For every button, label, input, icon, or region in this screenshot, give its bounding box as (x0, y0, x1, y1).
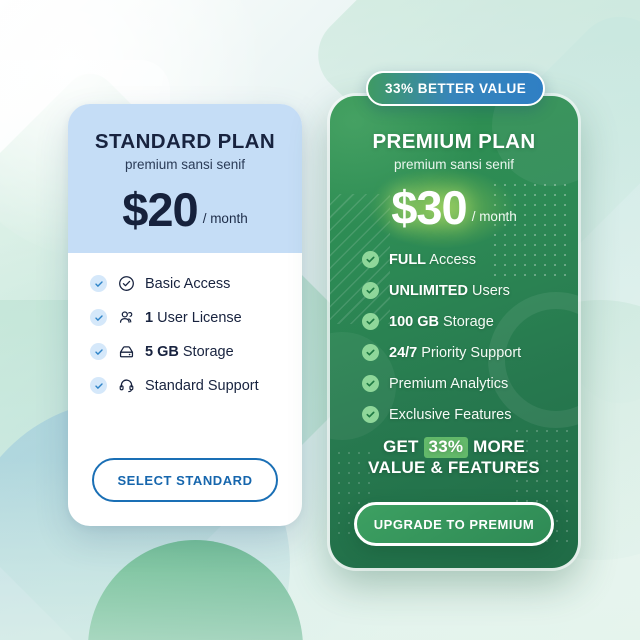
list-item: 24/7 Priority Support (362, 344, 578, 361)
standard-price-period: / month (203, 211, 248, 231)
list-item-label: Standard Support (145, 378, 259, 394)
list-item: Premium Analytics (362, 375, 578, 392)
list-item-label: Premium Analytics (389, 376, 508, 392)
list-item: UNLIMITED Users (362, 282, 578, 299)
list-item-label: Basic Access (145, 276, 230, 292)
premium-plan-subtitle: premium sansi senif (330, 157, 578, 172)
list-item: FULL Access (362, 251, 578, 268)
premium-price: $30 (391, 186, 466, 229)
check-badge-icon (90, 343, 107, 360)
premium-plan-card[interactable]: PREMIUM PLAN premium sansi senif $30 / m… (330, 96, 578, 568)
standard-plan-card[interactable]: STANDARD PLAN premium sansi senif $20 / … (68, 104, 302, 526)
standard-features-list: Basic Access 1 User License 5 GB Stora (68, 253, 302, 394)
promo-text: GET 33% MORE VALUE & FEATURES (330, 437, 578, 478)
check-circle-icon (362, 251, 379, 268)
premium-features-list: FULL Access UNLIMITED Users 100 GB Stora… (330, 251, 578, 423)
select-standard-button[interactable]: SELECT STANDARD (92, 458, 278, 502)
promo-prefix: GET (383, 437, 419, 456)
standard-plan-subtitle: premium sansi senif (84, 157, 286, 172)
pricing-comparison: STANDARD PLAN premium sansi senif $20 / … (0, 0, 640, 640)
check-circle-icon (362, 375, 379, 392)
check-circle-icon (362, 282, 379, 299)
background-green-circle (88, 540, 303, 640)
check-circle-icon (116, 275, 136, 292)
promo-highlight: 33% (424, 437, 469, 458)
promo-suffix: MORE (473, 437, 525, 456)
better-value-badge: 33% BETTER VALUE (366, 71, 545, 106)
check-badge-icon (90, 377, 107, 394)
headset-icon (116, 377, 136, 394)
list-item-label: 1 User License (145, 310, 242, 326)
promo-second-line: VALUE & FEATURES (330, 458, 578, 479)
standard-card-header: STANDARD PLAN premium sansi senif $20 / … (68, 104, 302, 253)
upgrade-to-premium-button[interactable]: UPGRADE TO PREMIUM (354, 502, 554, 546)
list-item-label: Exclusive Features (389, 407, 512, 423)
check-circle-icon (362, 344, 379, 361)
list-item-label: 5 GB Storage (145, 344, 234, 360)
premium-plan-title: PREMIUM PLAN (330, 130, 578, 154)
check-circle-icon (362, 313, 379, 330)
check-badge-icon (90, 275, 107, 292)
list-item: 5 GB Storage (90, 343, 302, 360)
list-item: 1 User License (90, 309, 302, 326)
storage-icon (116, 343, 136, 360)
list-item-label: UNLIMITED Users (389, 283, 510, 299)
users-icon (116, 309, 136, 326)
list-item-label: FULL Access (389, 252, 476, 268)
list-item: Standard Support (90, 377, 302, 394)
list-item-label: 24/7 Priority Support (389, 345, 521, 361)
list-item: Basic Access (90, 275, 302, 292)
premium-price-period: / month (472, 209, 517, 229)
standard-plan-title: STANDARD PLAN (84, 130, 286, 154)
list-item-label: 100 GB Storage (389, 314, 494, 330)
list-item: Exclusive Features (362, 406, 578, 423)
standard-price: $20 (122, 188, 197, 231)
standard-price-row: $20 / month (84, 188, 286, 231)
check-circle-icon (362, 406, 379, 423)
check-badge-icon (90, 309, 107, 326)
premium-price-row: $30 / month (330, 186, 578, 229)
list-item: 100 GB Storage (362, 313, 578, 330)
